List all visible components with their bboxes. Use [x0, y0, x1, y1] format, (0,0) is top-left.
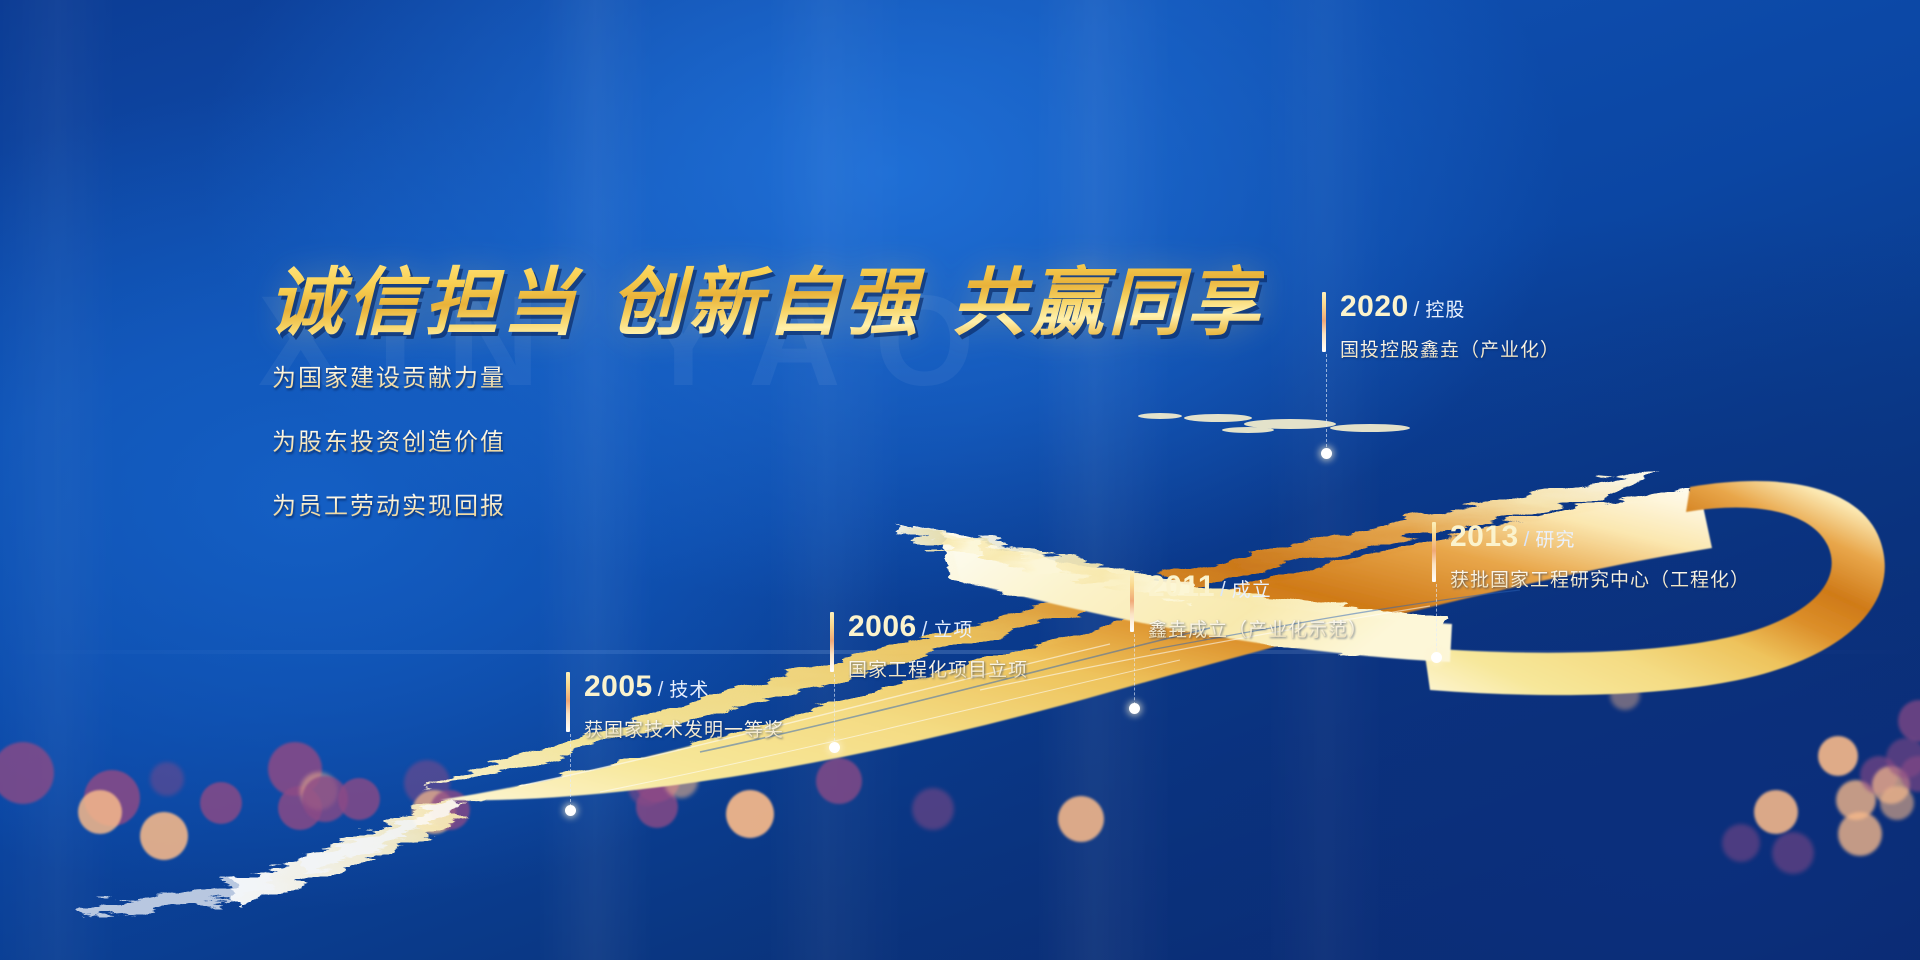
milestone-year-row: 2006/立项 [848, 612, 1028, 642]
milestone-year-row: 2011/成立 [1148, 572, 1368, 602]
bokeh-circle [1610, 680, 1640, 710]
bokeh-circle [912, 788, 954, 830]
bokeh-circle [1772, 832, 1814, 874]
milestone-year: 2011 [1148, 570, 1215, 603]
bokeh-circle [1836, 780, 1876, 820]
milestone-category: 技术 [669, 680, 709, 701]
slogan-list: 为国家建设贡献力量 为股东投资创造价值 为员工劳动实现回报 [272, 358, 506, 550]
slogan-line: 为员工劳动实现回报 [272, 486, 506, 521]
milestone-description: 国家工程化项目立项 [848, 655, 1028, 682]
bokeh-circle [430, 790, 470, 830]
milestone-category: 研究 [1535, 530, 1575, 551]
milestone-description: 鑫垚成立（产业化示范） [1148, 615, 1368, 642]
milestone-node-dot[interactable] [1431, 652, 1442, 663]
milestone-node-dot[interactable] [1321, 448, 1332, 459]
bokeh-circle [338, 778, 380, 820]
bokeh-circle [278, 786, 322, 830]
milestone-year-row: 2005/技术 [584, 672, 784, 702]
milestone-category: 控股 [1425, 300, 1465, 321]
bokeh-circle [0, 742, 54, 804]
bokeh-circle [140, 812, 188, 860]
milestone-year-row: 2013/研究 [1450, 522, 1750, 552]
milestone-description: 获批国家工程研究中心（工程化） [1450, 565, 1750, 592]
timeline-milestone[interactable]: 2013/研究获批国家工程研究中心（工程化） [1432, 522, 1750, 592]
slogan-line: 为国家建设贡献力量 [272, 358, 506, 393]
bokeh-circle [1838, 812, 1882, 856]
bokeh-circle [302, 776, 348, 822]
bokeh-circle [634, 756, 680, 802]
bokeh-circle [664, 764, 698, 798]
milestone-separator: / [658, 679, 664, 701]
bokeh-circle [300, 772, 338, 810]
milestone-description: 国投控股鑫垚（产业化） [1340, 335, 1560, 362]
bokeh-circle [1900, 756, 1920, 792]
bokeh-circle [1872, 766, 1910, 804]
bokeh-circle [1722, 824, 1760, 862]
bokeh-circle [636, 786, 678, 828]
milestone-leader-line [1134, 634, 1135, 710]
milestone-year: 2006 [848, 610, 917, 643]
milestone-text: 2013/研究获批国家工程研究中心（工程化） [1450, 522, 1750, 592]
bokeh-circle [1880, 786, 1914, 820]
bokeh-circle [84, 770, 140, 826]
milestone-accent-bar [1432, 522, 1436, 582]
bokeh-circle [1860, 756, 1898, 794]
milestone-accent-bar [1130, 572, 1134, 632]
slogan-line: 为股东投资创造价值 [272, 422, 506, 457]
bokeh-circle [404, 760, 450, 806]
milestone-text: 2006/立项国家工程化项目立项 [848, 612, 1028, 682]
milestone-year: 2005 [584, 670, 653, 703]
bokeh-circle [1886, 738, 1920, 778]
timeline-milestone[interactable]: 2005/技术获国家技术发明一等奖 [566, 672, 784, 742]
bokeh-circle [1818, 736, 1858, 776]
milestone-text: 2011/成立鑫垚成立（产业化示范） [1148, 572, 1368, 642]
milestone-category: 立项 [933, 620, 973, 641]
milestone-node-dot[interactable] [1129, 703, 1140, 714]
milestone-year: 2020 [1340, 290, 1409, 323]
bokeh-circle [412, 790, 456, 834]
bokeh-circle [628, 768, 666, 806]
banner-canvas: XIN YAO 诚信担当创新自强共赢同享 为国家建设贡献力量 为股东投资创造价值… [0, 0, 1920, 960]
bokeh-circle [1898, 700, 1920, 742]
milestone-accent-bar [1322, 292, 1326, 352]
bokeh-circle [726, 790, 774, 838]
timeline-milestone[interactable]: 2006/立项国家工程化项目立项 [830, 612, 1028, 682]
milestone-separator: / [1524, 529, 1530, 551]
milestone-year: 2013 [1450, 520, 1519, 553]
milestone-separator: / [922, 619, 928, 641]
bokeh-circle [268, 742, 322, 796]
timeline-milestone[interactable]: 2011/成立鑫垚成立（产业化示范） [1130, 572, 1368, 642]
milestone-description: 获国家技术发明一等奖 [584, 715, 784, 742]
milestone-node-dot[interactable] [829, 742, 840, 753]
milestone-accent-bar [830, 612, 834, 672]
milestone-text: 2005/技术获国家技术发明一等奖 [584, 672, 784, 742]
milestone-text: 2020/控股国投控股鑫垚（产业化） [1340, 292, 1560, 362]
headline-part-2: 创新自强 [610, 263, 922, 345]
headline-part-1: 诚信担当 [268, 263, 580, 345]
page-title: 诚信担当创新自强共赢同享 [268, 243, 1264, 350]
milestone-node-dot[interactable] [565, 805, 576, 816]
milestone-year-row: 2020/控股 [1340, 292, 1560, 322]
milestone-leader-line [1436, 584, 1437, 656]
bokeh-circle [78, 790, 122, 834]
bokeh-circle [1754, 790, 1798, 834]
bokeh-circle [816, 758, 862, 804]
timeline-milestone[interactable]: 2020/控股国投控股鑫垚（产业化） [1322, 292, 1560, 362]
milestone-category: 成立 [1232, 580, 1272, 601]
milestone-separator: / [1220, 579, 1226, 601]
bokeh-circle [200, 782, 242, 824]
milestone-leader-line [834, 674, 835, 746]
milestone-leader-line [570, 734, 571, 812]
headline-part-3: 共赢同享 [952, 263, 1264, 345]
milestone-accent-bar [566, 672, 570, 732]
bokeh-circle [1058, 796, 1104, 842]
milestone-leader-line [1326, 354, 1327, 452]
bokeh-circle [150, 762, 184, 796]
milestone-separator: / [1414, 299, 1420, 321]
